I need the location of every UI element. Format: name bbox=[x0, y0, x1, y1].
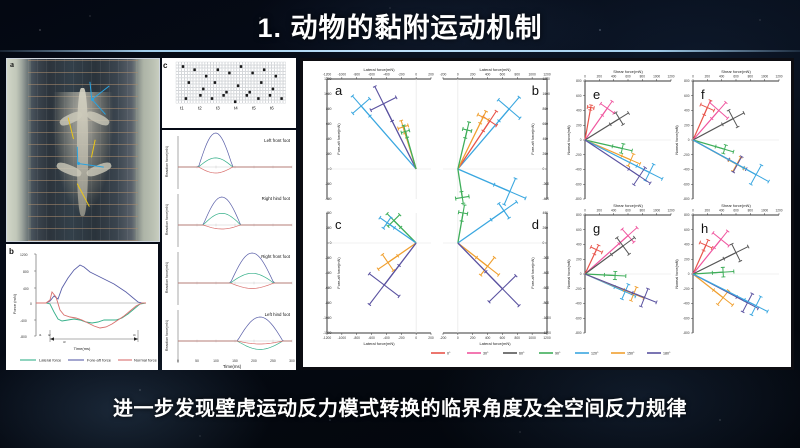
xtick-label: 600 bbox=[733, 209, 739, 213]
error-bar-minor bbox=[591, 247, 602, 252]
error-bar-minor bbox=[751, 165, 762, 184]
xtick-label: 200 bbox=[705, 209, 711, 213]
ytick-label: -200 bbox=[683, 153, 690, 157]
panel-a-photo: a bbox=[6, 58, 160, 242]
xtick-label: 400 bbox=[719, 75, 725, 79]
xtick-label: 250 bbox=[270, 359, 276, 363]
svg-text:Time(ms): Time(ms) bbox=[74, 346, 91, 351]
ytick-label: 400 bbox=[684, 243, 690, 247]
legend-label: 30° bbox=[483, 351, 489, 355]
xtick-label: 1200 bbox=[667, 75, 674, 79]
ytick-label: 1000 bbox=[324, 92, 332, 96]
error-bar-minor bbox=[645, 164, 653, 180]
xtick-label: 600 bbox=[625, 209, 631, 213]
svg-text:400: 400 bbox=[23, 287, 29, 291]
error-bar-minor bbox=[732, 244, 741, 261]
ytick-label: 400 bbox=[684, 109, 690, 113]
xtick-label: 200 bbox=[597, 209, 603, 213]
xtick-label: 800 bbox=[640, 75, 646, 79]
ytick-label: 400 bbox=[326, 211, 332, 215]
xtick-label: -200 bbox=[398, 336, 405, 340]
panel-letter: e bbox=[593, 87, 600, 102]
legend-label: 60° bbox=[519, 351, 525, 355]
xtick-label: 1000 bbox=[653, 75, 660, 79]
y-axis-label: Fore-aft force(mN) bbox=[531, 257, 535, 289]
xtick-label: -1000 bbox=[338, 336, 347, 340]
ytick-label: 0 bbox=[543, 167, 545, 171]
ytick-label: 200 bbox=[576, 123, 582, 127]
ytick-label: 0 bbox=[580, 138, 582, 142]
ytick-label: -600 bbox=[683, 182, 690, 186]
xtick-label: 600 bbox=[625, 75, 631, 79]
ytick-label: -400 bbox=[325, 197, 332, 201]
xtick-label: 0 bbox=[415, 73, 417, 77]
ytick-label: -600 bbox=[575, 182, 582, 186]
legend-label: 150° bbox=[627, 351, 635, 355]
panel-c-svg: Left front footReaction force(mN)Right h… bbox=[162, 130, 296, 370]
filmstrip-label: t2 bbox=[198, 106, 202, 111]
ytick-label: 200 bbox=[326, 226, 332, 230]
ytick-label: 200 bbox=[326, 152, 332, 156]
svg-text:t3: t3 bbox=[63, 340, 66, 344]
svg-text:t1: t1 bbox=[39, 333, 42, 337]
error-bar-minor bbox=[382, 254, 393, 270]
error-bar-minor bbox=[383, 217, 391, 228]
error-bar-minor bbox=[713, 233, 729, 246]
xtick-label: 400 bbox=[719, 209, 725, 213]
ytick-label: 200 bbox=[684, 257, 690, 261]
filmstrip-label: t5 bbox=[252, 106, 256, 111]
ytick-label: -1000 bbox=[543, 316, 552, 320]
xtick-label: 600 bbox=[733, 75, 739, 79]
x-axis-label: Shear force(mN) bbox=[613, 203, 643, 208]
ytick-label: -400 bbox=[325, 271, 332, 275]
legend-label: 0° bbox=[447, 351, 451, 355]
ytick-label: 800 bbox=[576, 79, 582, 83]
x-axis-label: Lateral force(mN) bbox=[479, 341, 511, 346]
ytick-label: 0 bbox=[580, 272, 582, 276]
ytick-label: -200 bbox=[575, 287, 582, 291]
ytick-label: 400 bbox=[576, 109, 582, 113]
glass-right bbox=[135, 59, 159, 241]
panel-letter: g bbox=[593, 221, 600, 236]
panel-b-letter: b bbox=[9, 247, 14, 256]
ytick-label: -600 bbox=[575, 316, 582, 320]
xtick-label: 800 bbox=[515, 73, 521, 77]
xtick-label: 600 bbox=[500, 73, 506, 77]
y-axis-label: Fore-aft force(mN) bbox=[337, 123, 341, 155]
vector-origin-dot bbox=[77, 162, 80, 165]
xtick-label: -800 bbox=[353, 73, 360, 77]
panel-c-letter: c bbox=[163, 61, 168, 70]
svg-text:-800: -800 bbox=[20, 335, 27, 339]
error-bar-minor bbox=[729, 110, 738, 127]
ytick-label: -800 bbox=[575, 197, 582, 201]
xtick-label: 0 bbox=[457, 336, 459, 340]
page-title: 1. 动物的黏附运动机制 bbox=[0, 4, 800, 46]
error-bar-minor bbox=[700, 243, 712, 248]
xtick-label: -800 bbox=[353, 336, 360, 340]
ytick-label: 200 bbox=[576, 257, 582, 261]
xtick-label: 1000 bbox=[528, 336, 536, 340]
ytick-label: 800 bbox=[576, 213, 582, 217]
panel-a-letter: a bbox=[10, 60, 14, 69]
x-axis-label: Lateral force(mN) bbox=[363, 67, 395, 72]
xtick-label: -200 bbox=[398, 73, 405, 77]
vector-origin-dot bbox=[91, 98, 94, 101]
subplot-ylabel: Reaction force(mN) bbox=[165, 262, 169, 293]
x-axis-label: Shear force(mN) bbox=[721, 203, 751, 208]
filmstrip-label: t1 bbox=[180, 106, 184, 111]
xtick-label: 1000 bbox=[528, 73, 536, 77]
svg-text:Lateral force: Lateral force bbox=[39, 358, 62, 363]
svg-text:Fore-aft force: Fore-aft force bbox=[87, 358, 112, 363]
xtick-label: 0 bbox=[177, 359, 179, 363]
error-bar-minor bbox=[504, 178, 515, 204]
error-bar-minor bbox=[634, 168, 645, 185]
xtick-label: 1200 bbox=[667, 209, 674, 213]
subplot-title: Left front foot bbox=[264, 138, 291, 143]
xtick-label: 0 bbox=[692, 75, 694, 79]
ytick-label: -400 bbox=[683, 168, 690, 172]
ytick-label: 800 bbox=[543, 107, 549, 111]
ytick-label: -800 bbox=[683, 331, 690, 335]
ytick-label: 400 bbox=[543, 137, 549, 141]
ytick-label: -400 bbox=[543, 271, 550, 275]
ytick-label: -800 bbox=[575, 331, 582, 335]
error-bar-minor bbox=[459, 212, 468, 214]
ytick-label: -200 bbox=[543, 256, 550, 260]
xtick-label: 200 bbox=[470, 73, 476, 77]
subplot-title: Left hind foot bbox=[265, 312, 291, 317]
xtick-label: -200 bbox=[440, 73, 447, 77]
x-axis-label: Lateral force(mN) bbox=[363, 341, 395, 346]
xtick-label: 400 bbox=[611, 75, 617, 79]
ytick-label: -400 bbox=[575, 168, 582, 172]
panel-letter: a bbox=[335, 83, 343, 98]
error-bar-minor bbox=[701, 105, 714, 111]
xtick-label: 1200 bbox=[543, 73, 551, 77]
xtick-label: -400 bbox=[383, 73, 390, 77]
ytick-label: -1200 bbox=[543, 331, 552, 335]
panel-c-filmstrip: c t1t2t3t4t5t6 bbox=[162, 58, 296, 128]
ytick-label: 600 bbox=[576, 94, 582, 98]
error-bar-minor bbox=[481, 257, 495, 275]
ytick-label: 200 bbox=[543, 226, 549, 230]
y-axis-label: Fore-aft force(mN) bbox=[337, 257, 341, 289]
y-axis-label: Normal force(mN) bbox=[567, 259, 571, 288]
xtick-label: 400 bbox=[485, 73, 491, 77]
x-axis-label: Lateral force(mN) bbox=[479, 67, 511, 72]
ytick-label: 200 bbox=[543, 152, 549, 156]
ytick-label: 0 bbox=[688, 138, 690, 142]
ytick-label: 600 bbox=[684, 94, 690, 98]
right-block-svg: -1200-1000-800-600-400-20002001200100080… bbox=[303, 61, 791, 367]
xtick-label: 1000 bbox=[761, 209, 768, 213]
xtick-label: 0 bbox=[415, 336, 417, 340]
error-bar-minor bbox=[723, 267, 724, 277]
title-divider bbox=[0, 50, 800, 52]
figure-container: a Fx(t) Fy(t) Fz(t) z x y b bbox=[6, 58, 794, 370]
subplot-title: Right hind foot bbox=[262, 196, 291, 201]
legend-label: 180° bbox=[663, 351, 671, 355]
xtick-label: 800 bbox=[748, 209, 754, 213]
panel-letter: h bbox=[701, 221, 708, 236]
ytick-label: -400 bbox=[543, 197, 550, 201]
error-bar-minor bbox=[718, 291, 729, 305]
error-bar-minor bbox=[601, 104, 614, 113]
xtick-label: -200 bbox=[440, 336, 447, 340]
ytick-label: -1000 bbox=[323, 316, 332, 320]
ytick-label: -200 bbox=[325, 182, 332, 186]
ytick-label: 800 bbox=[684, 79, 690, 83]
y-axis-label: Normal force(mN) bbox=[675, 125, 679, 154]
svg-text:-400: -400 bbox=[20, 319, 27, 323]
ytick-label: 600 bbox=[684, 228, 690, 232]
xtick-label: -1000 bbox=[338, 73, 347, 77]
svg-text:1200: 1200 bbox=[20, 253, 28, 257]
xtick-label: 200 bbox=[428, 73, 434, 77]
xtick-label: 150 bbox=[232, 359, 238, 363]
error-bar-minor bbox=[371, 97, 396, 110]
xtick-label: 0 bbox=[692, 209, 694, 213]
xtick-label: -600 bbox=[368, 336, 375, 340]
filmstrip-label: t3 bbox=[216, 106, 220, 111]
slide-caption: 进一步发现壁虎运动反力模式转换的临界角度及全空间反力规律 bbox=[0, 388, 800, 424]
xtick-label: 50 bbox=[195, 359, 199, 363]
svg-text:800: 800 bbox=[23, 270, 29, 274]
xtick-label: 200 bbox=[597, 75, 603, 79]
xtick-label: 800 bbox=[515, 336, 521, 340]
ytick-label: 400 bbox=[576, 243, 582, 247]
x-axis-label: Shear force(mN) bbox=[613, 69, 643, 74]
svg-text:Force (mN): Force (mN) bbox=[12, 293, 17, 314]
subplot-ylabel: Reaction force(mN) bbox=[165, 204, 169, 235]
subplot-ylabel: Reaction force(mN) bbox=[165, 320, 169, 351]
panel-b: b 1200 800 400 0 -400 -800 Force (mN) bbox=[6, 244, 158, 370]
xtick-label: 200 bbox=[470, 336, 476, 340]
panel-letter: f bbox=[701, 87, 705, 102]
filmstrip-svg: c t1t2t3t4t5t6 bbox=[162, 58, 296, 128]
x-axis-label: Shear force(mN) bbox=[721, 69, 751, 74]
ytick-label: 1200 bbox=[543, 77, 551, 81]
ytick-label: 0 bbox=[330, 167, 332, 171]
ytick-label: 400 bbox=[543, 211, 549, 215]
ytick-label: -600 bbox=[325, 286, 332, 290]
ytick-label: -600 bbox=[543, 286, 550, 290]
ytick-label: -600 bbox=[683, 316, 690, 320]
ytick-label: -800 bbox=[683, 197, 690, 201]
xtick-label: 1200 bbox=[775, 209, 782, 213]
ytick-label: -400 bbox=[683, 302, 690, 306]
ytick-label: 800 bbox=[684, 213, 690, 217]
y-axis-label: Normal force(mN) bbox=[675, 259, 679, 288]
panel-b-chart: b 1200 800 400 0 -400 -800 Force (mN) bbox=[6, 244, 158, 370]
ytick-label: -200 bbox=[543, 182, 550, 186]
xtick-label: 0 bbox=[457, 73, 459, 77]
xtick-label: 800 bbox=[640, 209, 646, 213]
xtick-label: 0 bbox=[584, 75, 586, 79]
svg-text:t4: t4 bbox=[133, 333, 136, 337]
error-bar-minor bbox=[616, 113, 623, 125]
xtick-label: 300 bbox=[289, 359, 295, 363]
filmstrip-label: t4 bbox=[234, 106, 238, 111]
xtick-label: 600 bbox=[500, 336, 506, 340]
error-bar-minor bbox=[587, 107, 594, 108]
panel-letter: d bbox=[532, 217, 539, 232]
error-bar-minor bbox=[499, 203, 509, 218]
xtick-label: -400 bbox=[383, 336, 390, 340]
filmstrip-label: t6 bbox=[270, 106, 274, 111]
ytick-label: 600 bbox=[326, 122, 332, 126]
ytick-label: 1200 bbox=[324, 77, 332, 81]
ytick-label: -400 bbox=[575, 302, 582, 306]
ytick-label: 0 bbox=[688, 272, 690, 276]
legend-label: 120° bbox=[591, 351, 599, 355]
xtick-label: -600 bbox=[368, 73, 375, 77]
error-bar-minor bbox=[498, 100, 520, 119]
ytick-label: -200 bbox=[575, 153, 582, 157]
panel-letter: b bbox=[532, 83, 539, 98]
xtick-label: 400 bbox=[485, 336, 491, 340]
ytick-label: 0 bbox=[330, 241, 332, 245]
subplot-title: Right front foot bbox=[261, 254, 291, 259]
ytick-label: 400 bbox=[326, 137, 332, 141]
xtick-label: 1000 bbox=[761, 75, 768, 79]
xtick-label: -1200 bbox=[323, 73, 332, 77]
svg-text:Normal force: Normal force bbox=[134, 358, 158, 363]
error-bar-minor bbox=[710, 103, 728, 119]
panel-c-charts: Left front footReaction force(mN)Right h… bbox=[162, 130, 296, 370]
xtick-label: 200 bbox=[428, 336, 434, 340]
xtick-label: 400 bbox=[611, 209, 617, 213]
xtick-label: -1200 bbox=[323, 336, 332, 340]
y-axis-label: Fore-aft force(mN) bbox=[531, 123, 535, 155]
subplot-ylabel: Reaction force(mN) bbox=[165, 146, 169, 177]
error-bar-minor bbox=[369, 274, 399, 297]
y-axis-label: Normal force(mN) bbox=[567, 125, 571, 154]
subplot-series bbox=[178, 197, 292, 225]
error-bar-minor bbox=[622, 229, 634, 242]
xtick-label: 1000 bbox=[653, 209, 660, 213]
ytick-label: 1000 bbox=[543, 92, 551, 96]
ytick-label: 800 bbox=[326, 107, 332, 111]
xtick-label: 200 bbox=[705, 75, 711, 79]
xtick-label: 1200 bbox=[775, 75, 782, 79]
ytick-label: 0 bbox=[543, 241, 545, 245]
legend-label: 90° bbox=[555, 351, 561, 355]
subplot-series bbox=[178, 317, 292, 341]
error-bar-minor bbox=[353, 99, 370, 114]
right-figure-block: -1200-1000-800-600-400-20002001200100080… bbox=[300, 58, 794, 370]
xtick-label: 0 bbox=[584, 209, 586, 213]
ytick-label: -800 bbox=[543, 301, 550, 305]
ytick-label: -200 bbox=[325, 256, 332, 260]
xtick-label: 200 bbox=[251, 359, 257, 363]
xtick-label: 800 bbox=[748, 75, 754, 79]
ytick-label: 600 bbox=[543, 122, 549, 126]
svg-text:t2: t2 bbox=[48, 333, 51, 337]
xtick-label: 100 bbox=[213, 359, 219, 363]
ytick-label: -200 bbox=[683, 287, 690, 291]
svg-text:0: 0 bbox=[30, 302, 32, 306]
ytick-label: 200 bbox=[684, 123, 690, 127]
xtick-label: 1200 bbox=[543, 336, 551, 340]
ytick-label: 600 bbox=[576, 228, 582, 232]
subplot-series bbox=[178, 213, 292, 225]
panel-c-xlabel: Time(ms) bbox=[223, 364, 242, 369]
panel-letter: c bbox=[335, 217, 342, 232]
ytick-label: -1200 bbox=[323, 331, 332, 335]
ytick-label: -800 bbox=[325, 301, 332, 305]
